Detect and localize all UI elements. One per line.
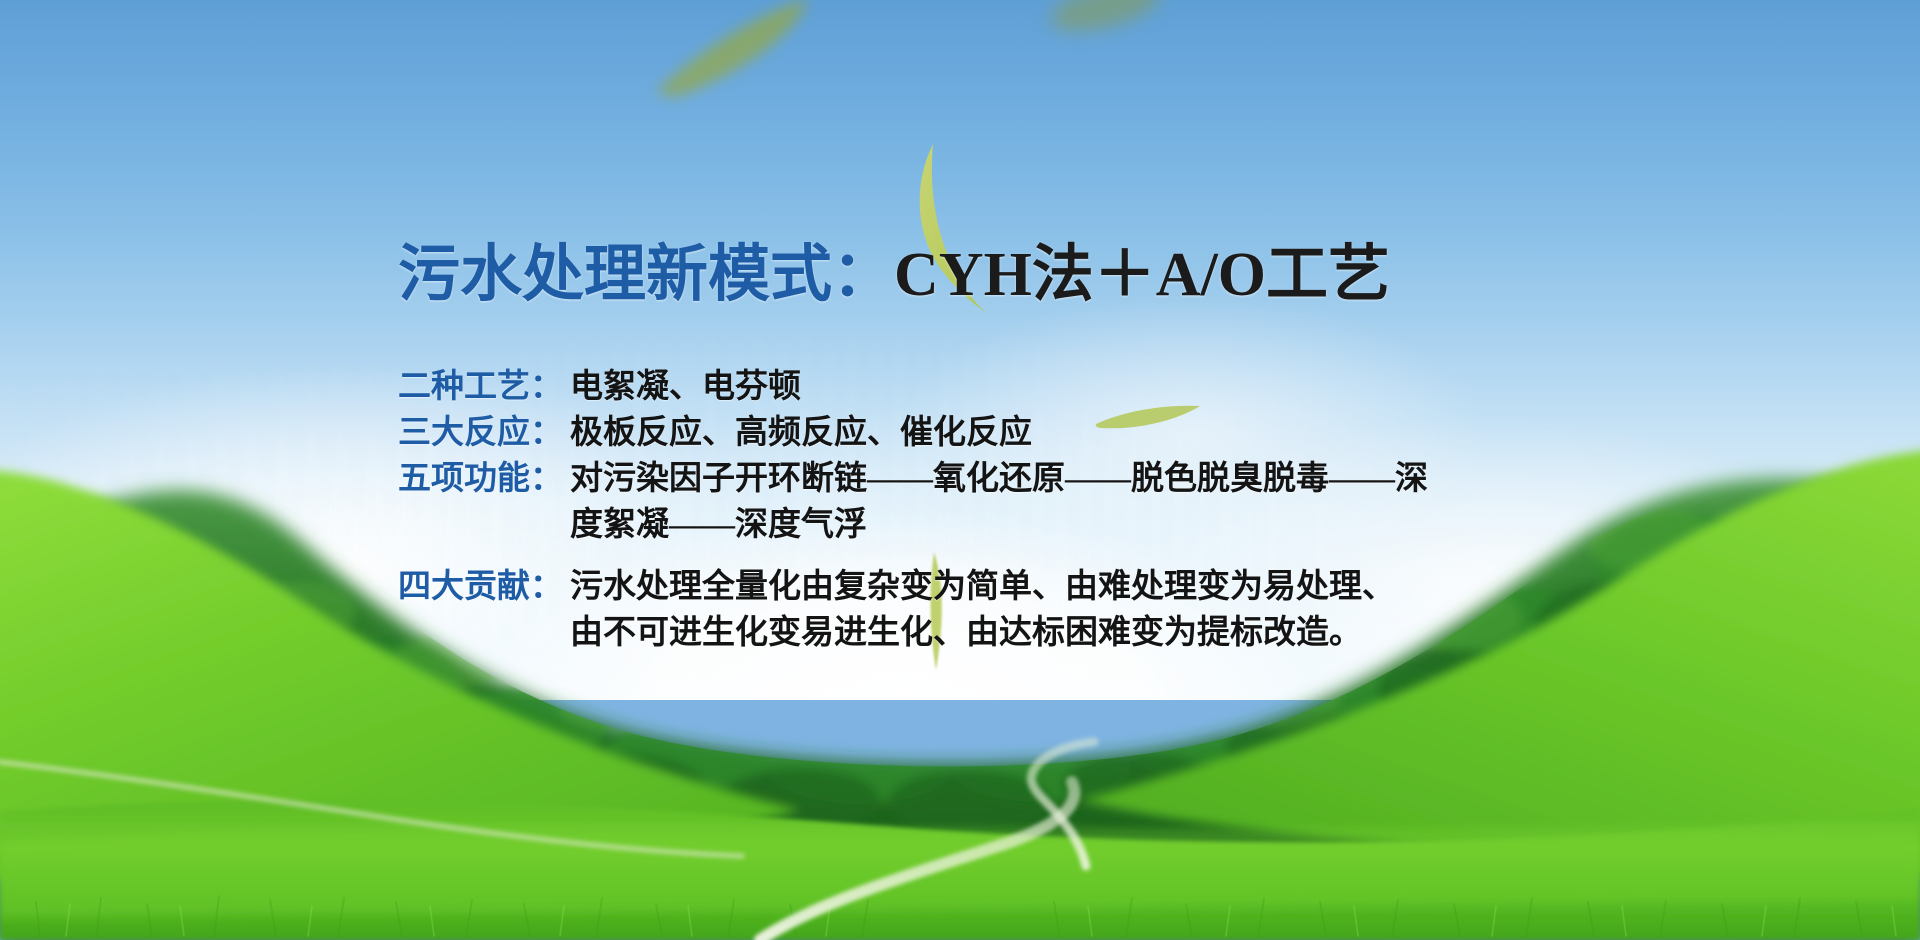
bullet-value-3: 对污染因子开环断链——氧化还原——脱色脱臭脱毒——深	[570, 456, 1428, 502]
bullet-label-2: 三大反应：	[398, 410, 570, 456]
title-chinese-part: 污水处理新模式：	[398, 241, 894, 309]
bullet-line-1: 二种工艺： 电絮凝、电芬顿	[398, 364, 1518, 410]
bullet-label-3: 五项功能：	[398, 456, 570, 502]
bullet-line-3-continuation: 度絮凝——深度气浮	[398, 502, 1518, 548]
bullet-line-4-continuation: 由不可进生化变易进生化、由达标困难变为提标改造。	[398, 610, 1518, 656]
title-latin-part: CYH法＋A/O工艺	[894, 241, 1390, 309]
bullet-value-3-continuation: 度絮凝——深度气浮	[570, 502, 867, 548]
slide-canvas: 污水处理新模式：CYH法＋A/O工艺 二种工艺： 电絮凝、电芬顿 三大反应： 极…	[0, 0, 1920, 940]
page-title: 污水处理新模式：CYH法＋A/O工艺	[398, 238, 1390, 312]
slide-text-content: 污水处理新模式：CYH法＋A/O工艺 二种工艺： 电絮凝、电芬顿 三大反应： 极…	[0, 0, 1920, 940]
bullet-line-2: 三大反应： 极板反应、高频反应、催化反应	[398, 410, 1518, 456]
bullet-line-4: 四大贡献： 污水处理全量化由复杂变为简单、由难处理变为易处理、	[398, 564, 1518, 610]
bullet-value-1: 电絮凝、电芬顿	[570, 364, 801, 410]
bullet-label-4: 四大贡献：	[398, 564, 570, 610]
bullet-label-1: 二种工艺：	[398, 364, 570, 410]
bullet-line-3: 五项功能： 对污染因子开环断链——氧化还原——脱色脱臭脱毒——深	[398, 456, 1518, 502]
bullet-value-4: 污水处理全量化由复杂变为简单、由难处理变为易处理、	[570, 564, 1395, 610]
bullet-value-4-continuation: 由不可进生化变易进生化、由达标困难变为提标改造。	[570, 610, 1362, 656]
bullet-value-2: 极板反应、高频反应、催化反应	[570, 410, 1032, 456]
bullet-list: 二种工艺： 电絮凝、电芬顿 三大反应： 极板反应、高频反应、催化反应 五项功能：…	[398, 364, 1518, 656]
